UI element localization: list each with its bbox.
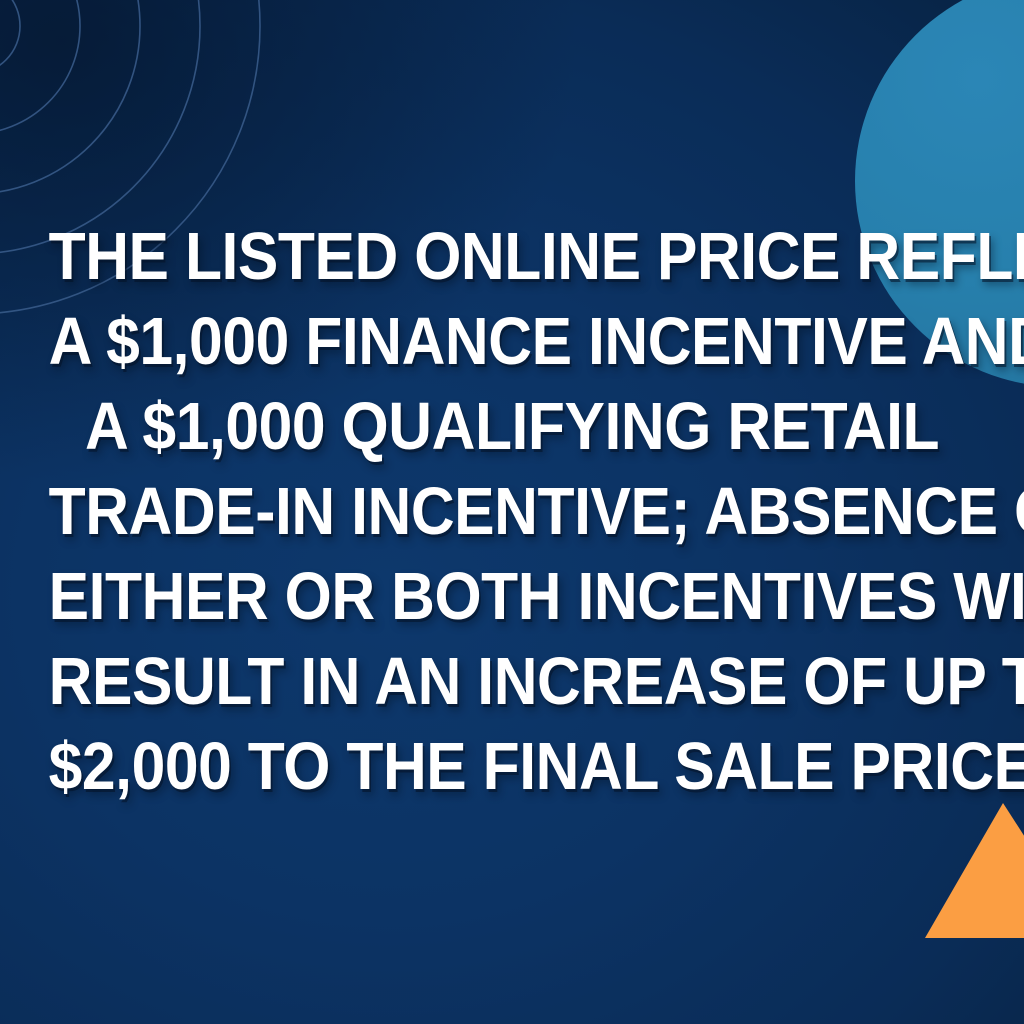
headline-line-2: A $1,000 FINANCE INCENTIVE AND xyxy=(49,299,976,384)
headline-line-3: A $1,000 QUALIFYING RETAIL xyxy=(49,384,976,469)
headline-line-7: $2,000 TO THE FINAL SALE PRICE. xyxy=(49,724,976,809)
promo-disclaimer-graphic: THE LISTED ONLINE PRICE REFLECTS A $1,00… xyxy=(0,0,1024,1024)
headline-line-5: EITHER OR BOTH INCENTIVES WILL xyxy=(49,554,976,639)
headline-line-1: THE LISTED ONLINE PRICE REFLECTS xyxy=(49,214,976,299)
headline-line-4: TRADE-IN INCENTIVE; ABSENCE OF xyxy=(49,469,976,554)
disclaimer-headline: THE LISTED ONLINE PRICE REFLECTS A $1,00… xyxy=(49,214,976,809)
headline-line-6: RESULT IN AN INCREASE OF UP TO xyxy=(49,639,976,724)
